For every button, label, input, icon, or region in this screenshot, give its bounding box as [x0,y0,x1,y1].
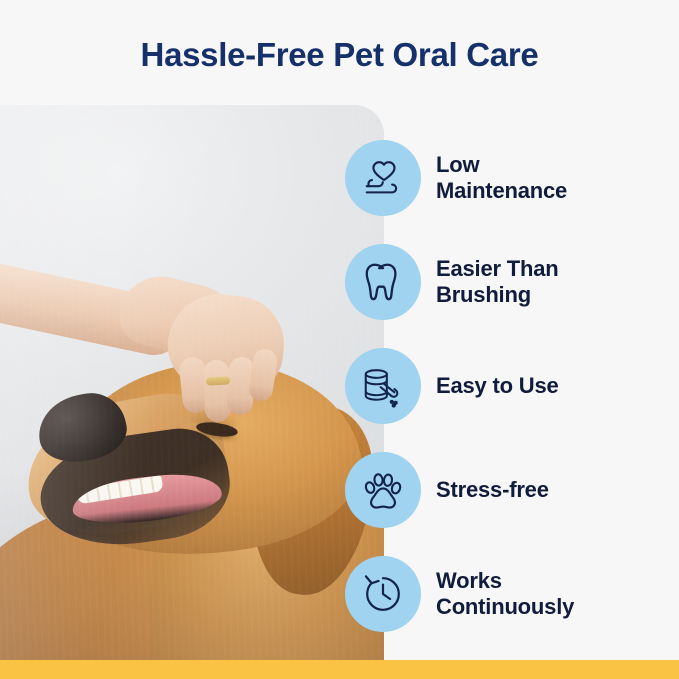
feature-item-low-maintenance[interactable]: Low Maintenance [345,140,679,216]
feature-item-works-continuously[interactable]: Works Continuously [345,556,679,632]
paw-print-icon [345,452,421,528]
dog-being-petted-photo [0,105,384,662]
feature-label: Stress-free [436,477,549,503]
bottom-accent-bar [0,660,679,679]
page-title: Hassle-Free Pet Oral Care [0,36,679,74]
feature-label: Low Maintenance [436,152,567,204]
feature-item-stress-free[interactable]: Stress-free [345,452,679,528]
backdrop-vignette [0,105,384,662]
feature-label: Easier Than Brushing [436,256,559,308]
infographic-canvas: Hassle-Free Pet Oral Care [0,0,679,679]
jar-and-scoop-icon [345,348,421,424]
tooth-icon [345,244,421,320]
feature-item-easy-to-use[interactable]: Easy to Use [345,348,679,424]
feature-label: Easy to Use [436,373,559,399]
heart-in-hand-icon [345,140,421,216]
feature-item-easier-than-brushing[interactable]: Easier Than Brushing [345,244,679,320]
clock-rotate-icon [345,556,421,632]
feature-label: Works Continuously [436,568,574,620]
